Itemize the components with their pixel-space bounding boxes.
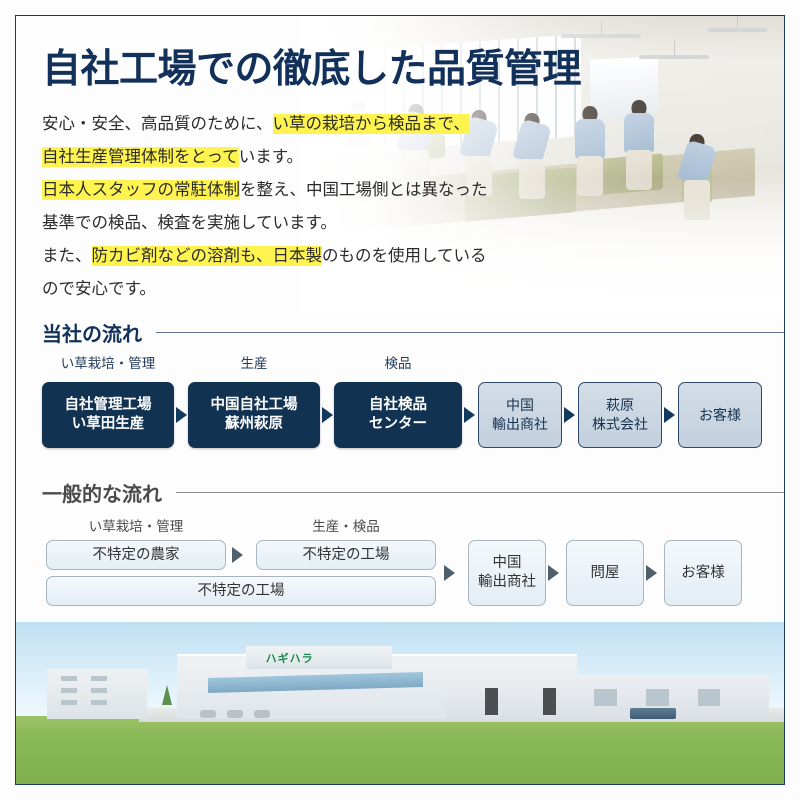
infographic-page: 自社工場での徹底した品質管理 安心・安全、高品質のために、い草の栽培から検品まで…	[0, 0, 800, 800]
flow-arrow-icon	[646, 565, 657, 581]
plain-text: 安心・安全、高品質のために、	[42, 115, 273, 133]
body-line: また、防カビ剤などの溶剤も、日本製のものを使用している	[42, 240, 562, 273]
flow-box: 中国自社工場 蘇州萩原	[188, 382, 320, 448]
body-copy: 安心・安全、高品質のために、い草の栽培から検品まで、自社生産管理体制をとっていま…	[42, 108, 562, 306]
flow-column-label: い草栽培・管理	[42, 352, 174, 372]
plain-text: また、	[42, 247, 92, 265]
flow-arrow-icon	[444, 565, 455, 581]
highlighted-text: 自社生産管理体制をとって	[42, 147, 239, 167]
flow-arrow-icon	[464, 407, 475, 423]
flow-box: お客様	[678, 382, 762, 448]
flow-box: 問屋	[566, 540, 644, 606]
plain-text: のものを使用している	[322, 247, 487, 265]
highlighted-text: い草の栽培から検品まで、	[273, 114, 470, 134]
flow-arrow-icon	[176, 407, 187, 423]
plain-text: 基準での検品、検査を実施しています。	[42, 214, 337, 232]
body-line: 基準での検品、検査を実施しています。	[42, 207, 562, 240]
flow-column-label: 検品	[334, 352, 462, 372]
flow-arrow-icon	[664, 407, 675, 423]
flow-arrow-icon	[322, 407, 333, 423]
heading-rule	[156, 332, 785, 333]
company-flow-heading: 当社の流れ	[42, 318, 785, 347]
company-flow-heading-label: 当社の流れ	[42, 318, 142, 347]
flow-arrow-icon	[564, 407, 575, 423]
page-title: 自社工場での徹底した品質管理	[42, 38, 581, 94]
flow-box: お客様	[664, 540, 742, 606]
flow-box: 萩原 株式会社	[578, 382, 662, 448]
general-flow-heading: 一般的な流れ	[42, 478, 785, 507]
flow-box: 自社管理工場 い草田生産	[42, 382, 174, 448]
flow-box: 中国 輸出商社	[468, 540, 546, 606]
flow-box: 中国 輸出商社	[478, 382, 562, 448]
flow-box: 不特定の工場	[256, 540, 436, 570]
flow-arrow-icon	[548, 565, 559, 581]
flow-column-label: い草栽培・管理	[46, 515, 226, 535]
flow-box: 不特定の農家	[46, 540, 226, 570]
body-line: 自社生産管理体制をとっています。	[42, 141, 562, 174]
plain-text: います。	[239, 148, 303, 166]
flow-box: 自社検品 センター	[334, 382, 462, 448]
flow-box: 不特定の工場	[46, 576, 436, 606]
body-line: 日本人スタッフの常駐体制を整え、中国工場側とは異なった	[42, 174, 562, 207]
flow-arrow-icon	[232, 547, 243, 563]
plain-text: ので安心です。	[42, 280, 156, 298]
flow-column-label: 生産・検品	[256, 515, 436, 535]
body-line: 安心・安全、高品質のために、い草の栽培から検品まで、	[42, 108, 562, 141]
flow-column-label: 生産	[188, 352, 320, 372]
general-flow-heading-label: 一般的な流れ	[42, 478, 162, 507]
plain-text: を整え、中国工場側とは異なった	[240, 181, 488, 199]
body-line: ので安心です。	[42, 273, 562, 306]
heading-rule	[176, 492, 785, 493]
highlighted-text: 防カビ剤などの溶剤も、日本製	[92, 246, 323, 266]
highlighted-text: 日本人スタッフの常駐体制	[42, 180, 240, 200]
